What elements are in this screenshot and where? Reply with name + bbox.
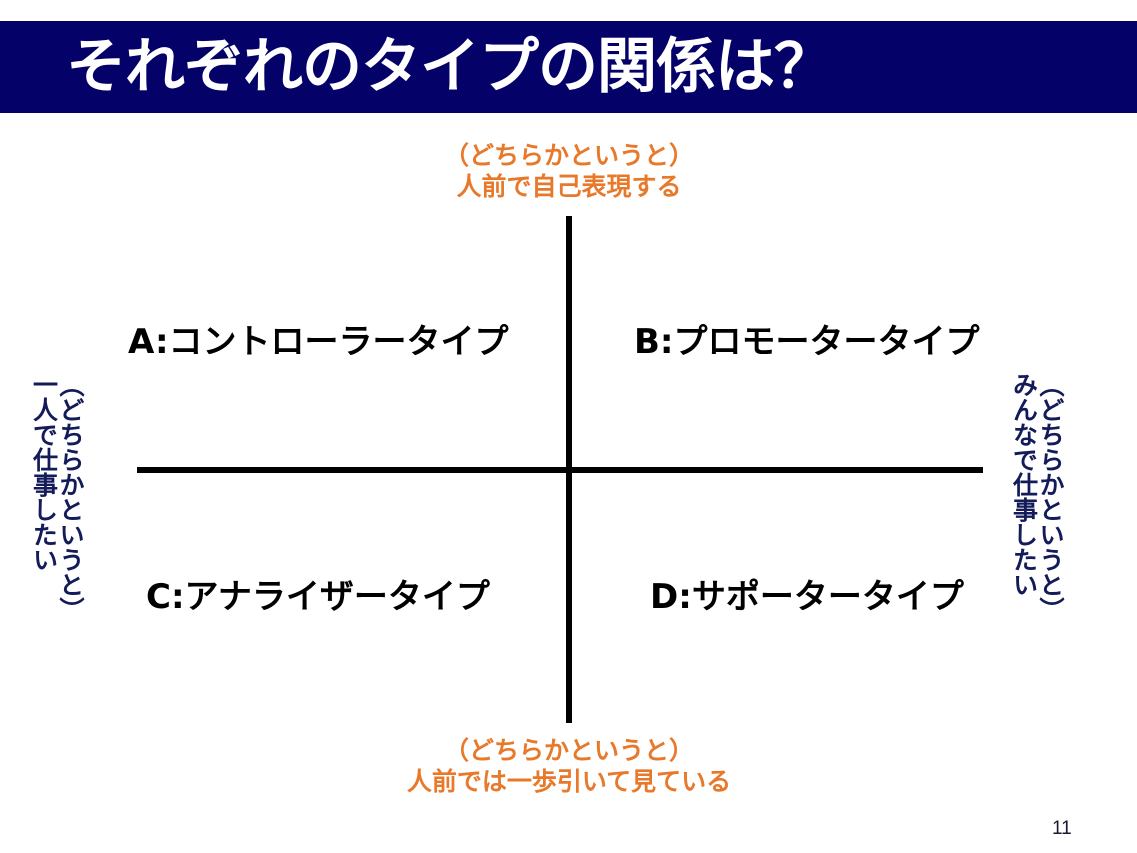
axis-caption-top-line2: 人前で自己表現する <box>444 172 694 203</box>
title-bar: それぞれのタイプの関係は？ <box>0 21 1137 113</box>
axis-caption-left: （どちらかというと） 一人で仕事したい <box>30 372 83 622</box>
page-title: それぞれのタイプの関係は？ <box>66 37 833 97</box>
quadrant-label-b: B:プロモータータイプ <box>634 325 980 359</box>
axis-caption-left-line2: 一人で仕事したい <box>30 372 57 622</box>
axis-caption-right: （どちらかというと） みんなで仕事したい <box>1010 372 1063 622</box>
quadrant-label-a: A:コントローラータイプ <box>128 325 509 359</box>
axis-caption-right-line1: （どちらかというと） <box>1037 372 1064 622</box>
axis-caption-left-line1: （どちらかというと） <box>57 372 84 622</box>
quadrant-label-c: C:アナライザータイプ <box>146 580 490 614</box>
axis-caption-bottom-line2: 人前では一歩引いて見ている <box>407 767 731 798</box>
horizontal-axis-line <box>137 467 983 473</box>
page-number: 11 <box>1052 818 1072 840</box>
axis-caption-bottom-line1: （どちらかというと） <box>407 736 731 767</box>
axis-caption-right-line2: みんなで仕事したい <box>1010 372 1037 622</box>
axis-caption-top-line1: （どちらかというと） <box>444 141 694 172</box>
slide-canvas: それぞれのタイプの関係は？ （どちらかというと） 人前で自己表現する （どちらか… <box>0 0 1137 853</box>
axis-caption-bottom: （どちらかというと） 人前では一歩引いて見ている <box>407 736 731 797</box>
quadrant-label-d: D:サポータータイプ <box>650 580 964 614</box>
axis-caption-top: （どちらかというと） 人前で自己表現する <box>444 141 694 202</box>
